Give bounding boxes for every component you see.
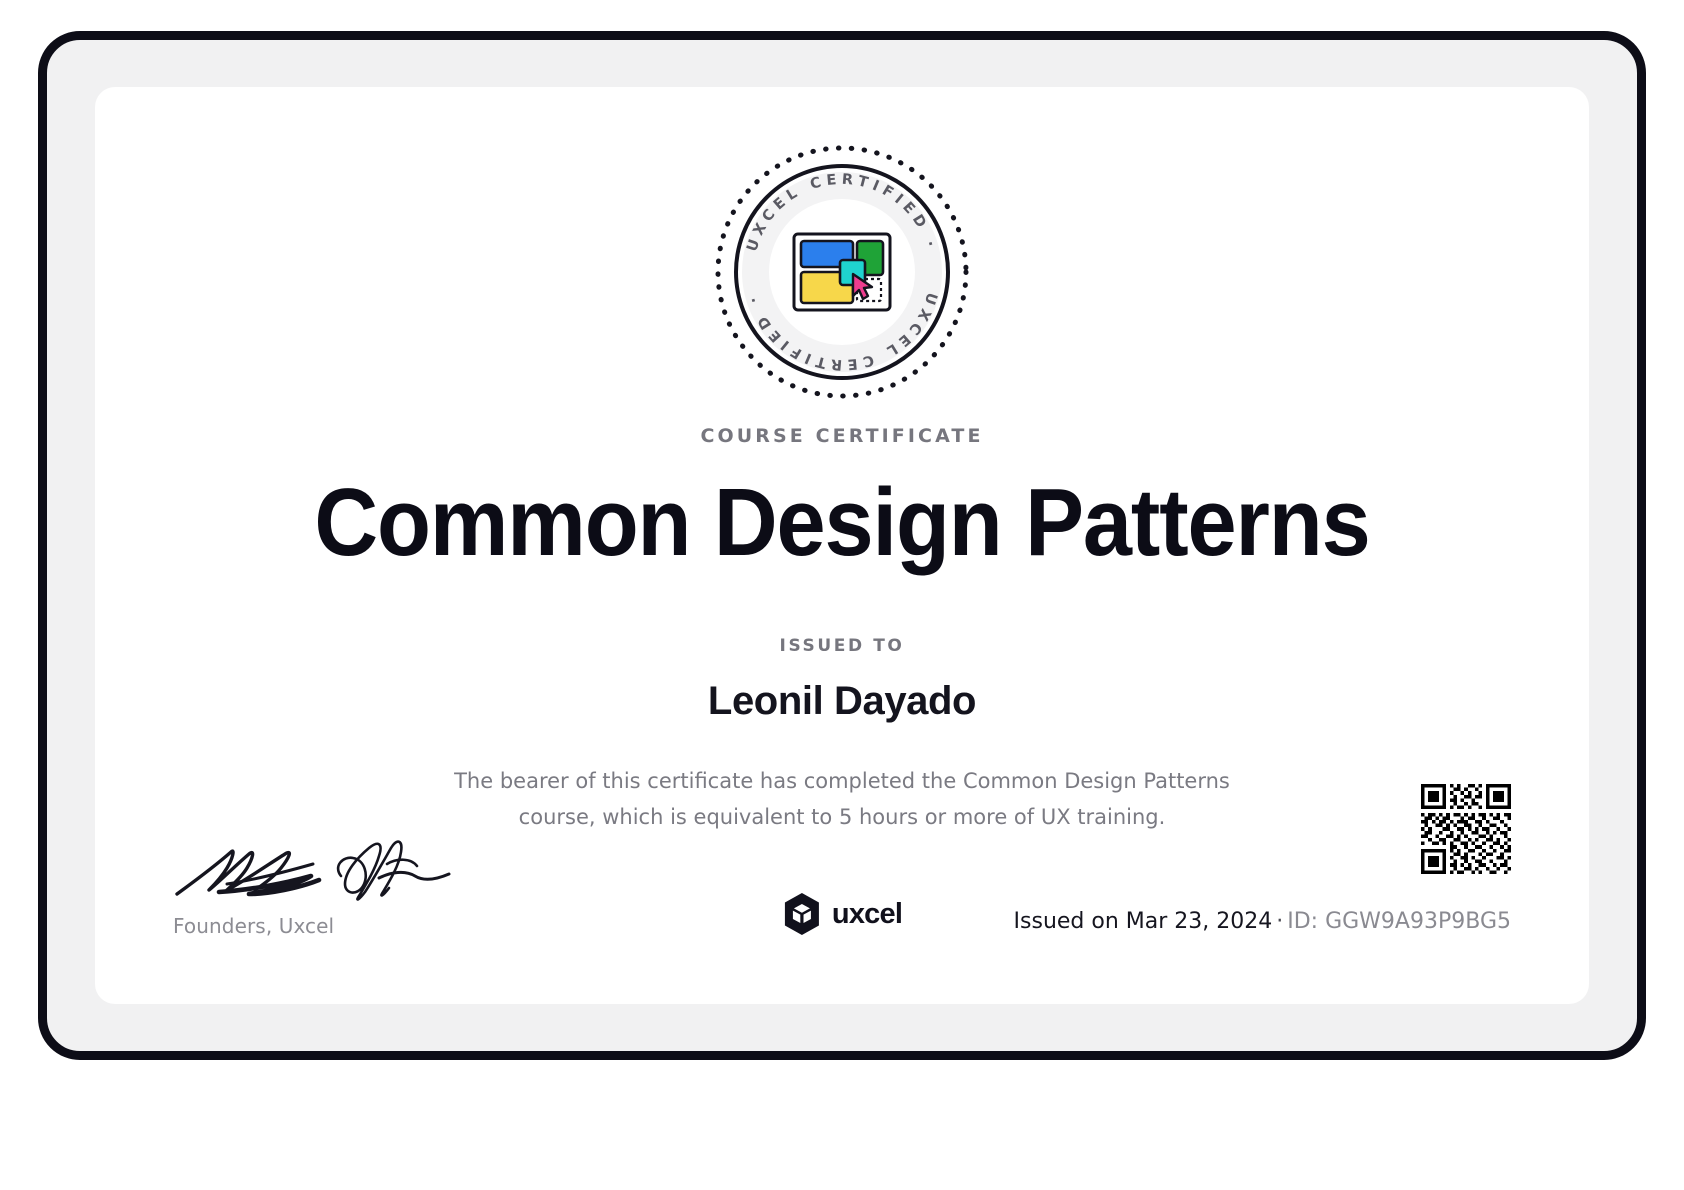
founder-signatures-icon <box>173 828 503 910</box>
uxcel-logo: uxcel <box>782 892 902 936</box>
certificate-qr-code[interactable] <box>1421 784 1511 874</box>
signature-caption: Founders, Uxcel <box>173 914 503 938</box>
certificate-panel: UXCEL CERTIFIED · UXCEL CERTIFIED · <box>95 87 1589 1004</box>
uxcel-certified-seal: UXCEL CERTIFIED · UXCEL CERTIFIED · <box>712 142 972 402</box>
uxcel-hexagon-icon <box>782 892 822 936</box>
issue-info-separator: · <box>1272 909 1287 934</box>
issued-on-date: Issued on Mar 23, 2024 <box>1014 909 1273 934</box>
course-title: Common Design Patterns <box>155 469 1529 577</box>
recipient-name: Leonil Dayado <box>95 679 1589 724</box>
course-certificate-label: COURSE CERTIFICATE <box>95 425 1589 447</box>
design-patterns-icon <box>794 234 890 310</box>
certificate-id: ID: GGW9A93P9BG5 <box>1287 909 1511 934</box>
issued-to-label: ISSUED TO <box>95 636 1589 656</box>
uxcel-wordmark: uxcel <box>832 898 902 931</box>
certificate-description: The bearer of this certificate has compl… <box>452 763 1232 835</box>
issue-info: Issued on Mar 23, 2024·ID: GGW9A93P9BG5 <box>1014 909 1511 934</box>
signature-block: Founders, Uxcel <box>173 828 503 938</box>
certificate-frame: UXCEL CERTIFIED · UXCEL CERTIFIED · <box>38 31 1646 1060</box>
